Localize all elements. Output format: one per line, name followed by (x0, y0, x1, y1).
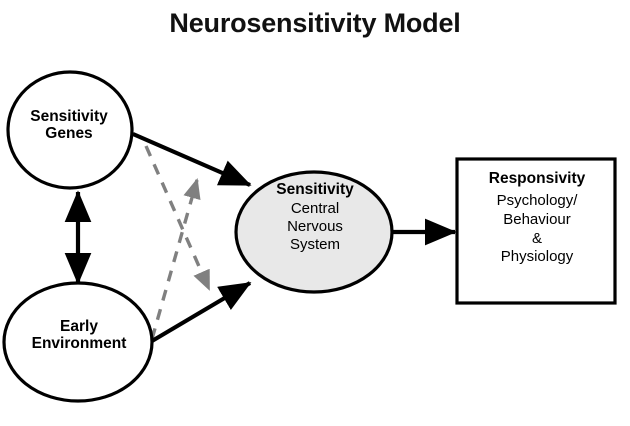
node-responsivity[interactable] (457, 159, 615, 303)
diagram-shapes-layer (0, 0, 630, 426)
edge-genes-to-cns (133, 134, 250, 185)
node-early-environment[interactable] (4, 283, 152, 401)
edge-genes-interaction-dashed (146, 146, 209, 289)
edge-environment-interaction-dashed (152, 180, 197, 339)
node-sensitivity-cns[interactable] (236, 172, 392, 292)
neurosensitivity-diagram: Neurosensitivity Model Sensitiv (0, 0, 630, 426)
node-sensitivity-genes[interactable] (8, 72, 132, 188)
